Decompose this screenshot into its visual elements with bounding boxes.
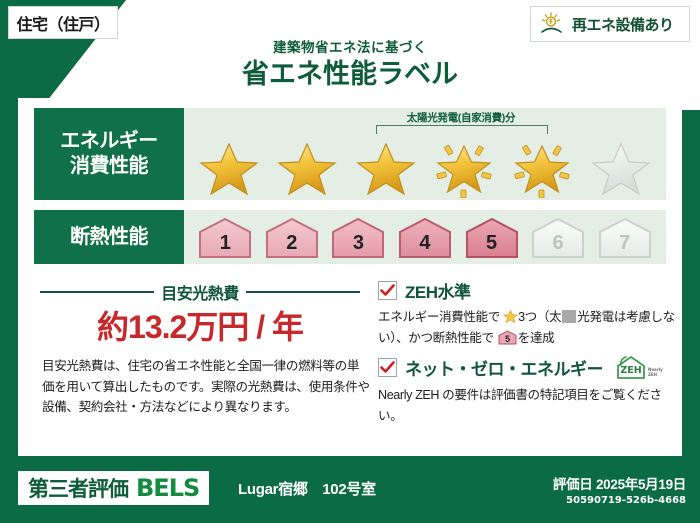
utility-cost-heading-text: 目安光熱費 bbox=[161, 280, 239, 304]
inline-insulation-grade-5-icon: 5 bbox=[498, 330, 517, 345]
criteria-nzeb-header: ネット・ゼロ・エネルギー ZEH Nearly ZEH bbox=[378, 354, 678, 381]
footer-bar: 第三者評価 BELS Lugar宿郷 102号室 評価日 2025年5月19日 … bbox=[0, 461, 700, 523]
star-empty-6 bbox=[591, 140, 651, 198]
solar-bracket bbox=[376, 125, 548, 134]
bels-logo-box: 第三者評価 BELS bbox=[18, 471, 209, 505]
energy-performance-label-line1: エネルギー bbox=[60, 129, 158, 154]
criteria-net-zero-energy: ネット・ゼロ・エネルギー ZEH Nearly ZEH Nearly ZEH の… bbox=[378, 354, 678, 427]
star-filled-3 bbox=[356, 140, 416, 198]
insulation-grade-1: 1 bbox=[197, 216, 253, 260]
svg-text:ZEH: ZEH bbox=[648, 372, 657, 377]
insulation-grade-6: 6 bbox=[530, 216, 586, 260]
title-subheading: 建築物省エネ法に基づく bbox=[0, 40, 700, 56]
evaluation-date: 評価日 2025年5月19日 bbox=[553, 473, 686, 493]
star-filled-solar-5 bbox=[512, 140, 572, 198]
net-zero-energy-title: ネット・ゼロ・エネルギー bbox=[405, 355, 603, 380]
label-title-block: 建築物省エネ法に基づく 省エネ性能ラベル bbox=[0, 40, 700, 91]
insulation-grade-3-number: 3 bbox=[353, 232, 364, 260]
insulation-grade-7-number: 7 bbox=[619, 232, 630, 260]
star-filled-2 bbox=[277, 140, 337, 198]
energy-performance-rating-area: 太陽光発電(自家消費)分 bbox=[184, 108, 666, 200]
insulation-grade-5: 5 bbox=[464, 216, 520, 260]
insulation-grade-4-number: 4 bbox=[419, 232, 430, 260]
zeh-body-part2: 3つ（太 bbox=[518, 310, 561, 324]
redacted-char-block bbox=[562, 310, 576, 323]
insulation-grade-1-number: 1 bbox=[220, 232, 231, 260]
insulation-grade-2: 2 bbox=[264, 216, 320, 260]
utility-cost-heading: 目安光熱費 bbox=[40, 280, 360, 304]
criteria-zeh-standard: ZEH水準 エネルギー消費性能で 3つ（太光発電は考慮しない）、かつ断熱性能で … bbox=[378, 278, 678, 349]
third-party-eval-label: 第三者評価 bbox=[28, 473, 128, 503]
evaluation-id: 50590719-526b-4668 bbox=[553, 495, 686, 506]
label-body-card: エネルギー 消費性能 太陽光発電(自家消費)分 bbox=[18, 98, 682, 456]
property-name: Lugar宿郷 102号室 bbox=[238, 478, 376, 499]
building-type-tag: 住宅（住戸） bbox=[8, 6, 118, 39]
criteria-zeh-header: ZEH水準 bbox=[378, 278, 678, 303]
utility-cost-amount: 約13.2万円 / 年 bbox=[40, 302, 360, 348]
insulation-grade-4: 4 bbox=[397, 216, 453, 260]
energy-performance-label-line2: 消費性能 bbox=[70, 154, 148, 179]
insulation-grade-7: 7 bbox=[597, 216, 653, 260]
check-icon bbox=[380, 361, 395, 374]
renewable-energy-badge: 再エネ設備あり bbox=[530, 6, 690, 42]
renewable-energy-label: 再エネ設備あり bbox=[572, 14, 674, 35]
insulation-grade-5-number: 5 bbox=[486, 232, 497, 260]
zeh-house-logo-icon: ZEH Nearly ZEH bbox=[614, 354, 664, 381]
svg-text:5: 5 bbox=[505, 334, 510, 344]
zeh-standard-title: ZEH水準 bbox=[405, 278, 471, 303]
title-heading: 省エネ性能ラベル bbox=[0, 57, 700, 91]
net-zero-energy-body: Nearly ZEH の要件は評価書の特記項目をご覧ください。 bbox=[378, 385, 678, 427]
insulation-grade-area: 1 2 bbox=[184, 210, 666, 264]
check-icon bbox=[380, 284, 395, 297]
bels-energy-label: 住宅（住戸） 再エネ設備あり 建築物省エネ法に基づく 省エネ性能ラベル エネルギ… bbox=[0, 0, 700, 523]
zeh-standard-body: エネルギー消費性能で 3つ（太光発電は考慮しない）、かつ断熱性能で 5 を達成 bbox=[378, 307, 678, 349]
star-filled-1 bbox=[199, 140, 259, 198]
bels-wordmark: BELS bbox=[136, 474, 199, 502]
zeh-body-part1: エネルギー消費性能で bbox=[378, 310, 500, 324]
insulation-performance-label-text: 断熱性能 bbox=[70, 225, 148, 250]
insulation-grade-3: 3 bbox=[330, 216, 386, 260]
star-rating bbox=[184, 140, 666, 198]
sun-icon bbox=[539, 12, 565, 36]
insulation-grade-6-number: 6 bbox=[553, 232, 564, 260]
energy-performance-label: エネルギー 消費性能 bbox=[34, 108, 184, 200]
insulation-performance-label: 断熱性能 bbox=[34, 210, 184, 264]
rule-left bbox=[40, 291, 154, 293]
star-filled-solar-4 bbox=[434, 140, 494, 198]
building-type-label: 住宅（住戸） bbox=[16, 11, 109, 35]
evaluation-info: 評価日 2025年5月19日 50590719-526b-4668 bbox=[553, 473, 686, 506]
insulation-performance-row: 断熱性能 1 bbox=[34, 210, 666, 264]
net-zero-energy-checkbox[interactable] bbox=[378, 358, 397, 377]
insulation-grade-2-number: 2 bbox=[286, 232, 297, 260]
solar-generation-note: 太陽光発電(自家消費)分 bbox=[356, 110, 566, 125]
insulation-grade-list: 1 2 bbox=[184, 214, 666, 262]
inline-star-icon bbox=[503, 309, 518, 324]
zeh-body-part4: を達成 bbox=[518, 331, 555, 345]
rule-right bbox=[246, 291, 360, 293]
utility-cost-note: 目安光熱費は、住宅の省エネ性能と全国一律の燃料等の単価を用いて算出したものです。… bbox=[42, 356, 370, 418]
energy-performance-row: エネルギー 消費性能 太陽光発電(自家消費)分 bbox=[34, 108, 666, 200]
zeh-standard-checkbox[interactable] bbox=[378, 281, 397, 300]
svg-text:ZEH: ZEH bbox=[620, 365, 641, 376]
